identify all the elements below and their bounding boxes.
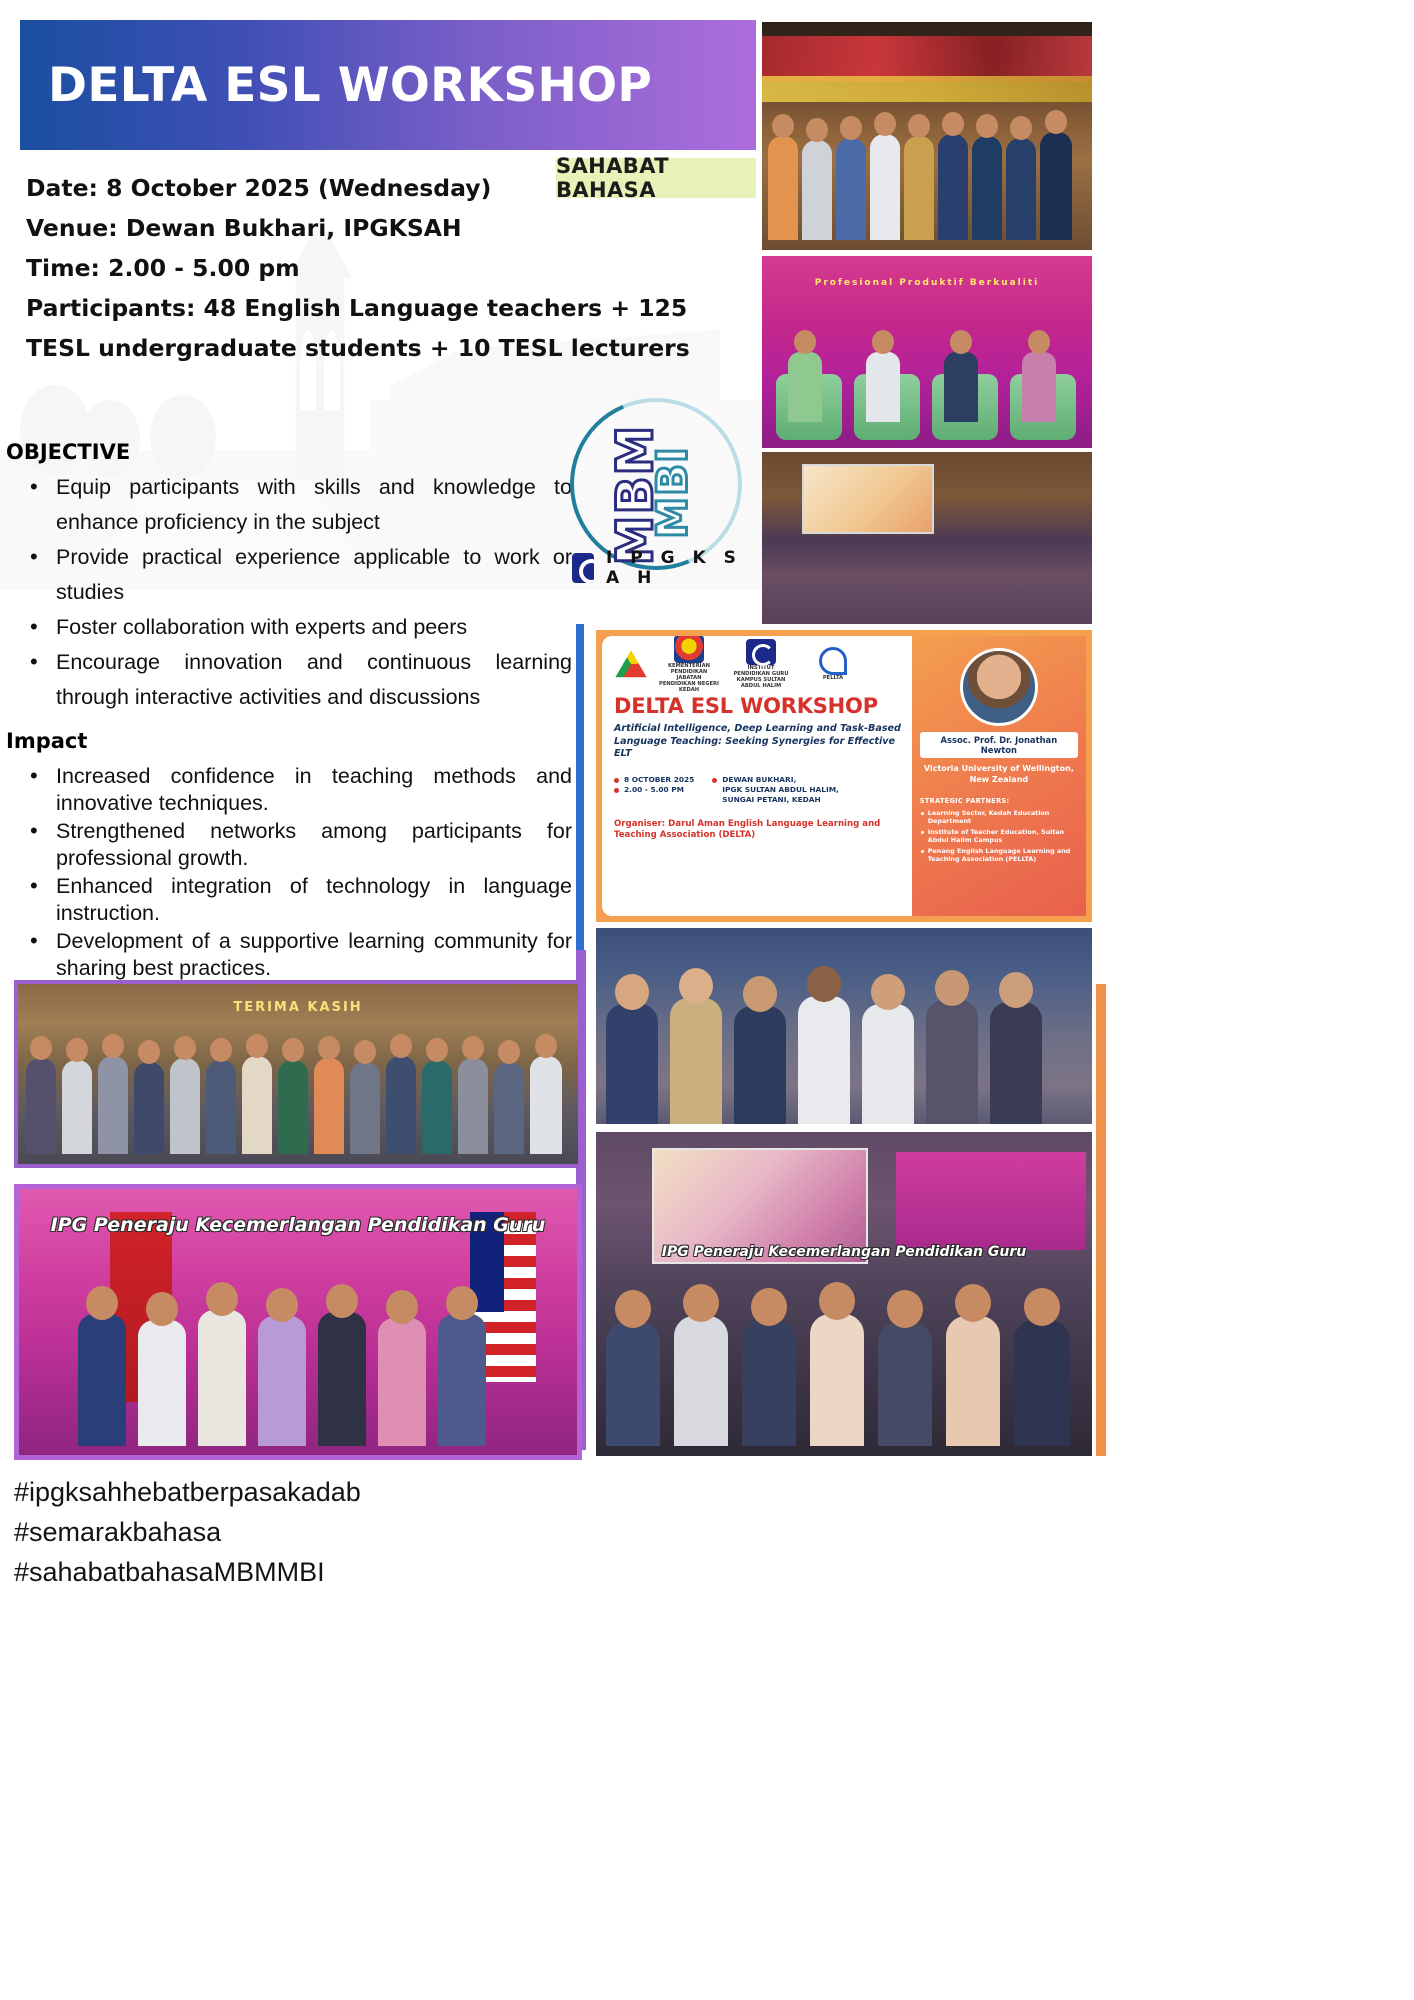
photo-image — [596, 928, 1092, 1124]
poster-meta-venue-1: DEWAN BUKHARI, — [712, 775, 839, 785]
event-details: Date: 8 October 2025 (Wednesday) Venue: … — [26, 168, 726, 368]
poster-meta-venue-3: SUNGAI PETANI, KEDAH — [712, 795, 839, 805]
list-item: Provide practical experience applicable … — [26, 540, 572, 610]
kedah-logo-icon — [614, 649, 648, 679]
list-item: Development of a supportive learning com… — [26, 928, 572, 982]
poster-logo-caption: KEMENTERIAN PENDIDIKAN JABATAN PENDIDIKA… — [658, 663, 720, 693]
poster-organiser: Organiser: Darul Aman English Language L… — [614, 819, 902, 841]
detail-date: Date: 8 October 2025 (Wednesday) — [26, 168, 726, 208]
list-item: Institute of Teacher Education, Sultan A… — [920, 828, 1078, 845]
photo-panel-pink: Profesional Produktif Berkualiti — [762, 256, 1092, 448]
accent-bar-blue — [576, 624, 584, 976]
photo-image — [762, 452, 1092, 624]
poster-logo-strip: KEMENTERIAN PENDIDIKAN JABATAN PENDIDIKA… — [614, 646, 902, 682]
photo-audience-rows — [596, 928, 1092, 1124]
photo-image: Profesional Produktif Berkualiti — [762, 256, 1092, 448]
photo-group-stage — [762, 22, 1092, 250]
photo-caption-text: Profesional Produktif Berkualiti — [762, 278, 1092, 288]
pellta-logo-icon — [819, 647, 847, 675]
ipg-mark-icon — [572, 553, 594, 583]
speaker-name: Assoc. Prof. Dr. Jonathan Newton — [920, 732, 1078, 758]
impact-heading: Impact — [6, 729, 572, 753]
header-banner: DELTA ESL WORKSHOP — [20, 20, 756, 150]
poster-logo-caption: INSTITUT PENDIDIKAN GURU KAMPUS SULTAN A… — [730, 665, 792, 689]
mbm-mbi-logo: MBM MBI I P G K S A H — [566, 398, 752, 584]
list-item: Learning Sector, Kedah Education Departm… — [920, 809, 1078, 826]
poster-title: DELTA ESL WORKSHOP — [614, 694, 902, 718]
photo-frame-pink — [14, 1184, 582, 1460]
photo-image — [762, 22, 1092, 250]
list-item: Equip participants with skills and knowl… — [26, 470, 572, 540]
page-title: DELTA ESL WORKSHOP — [20, 58, 652, 113]
list-item: Strengthened networks among participants… — [26, 818, 572, 872]
detail-participants: Participants: 48 English Language teache… — [26, 288, 726, 368]
detail-venue: Venue: Dewan Bukhari, IPGKSAH — [26, 208, 726, 248]
photo-hall-wide — [762, 452, 1092, 624]
poster-logo-caption: PELLTA — [802, 675, 864, 681]
objective-list: Equip participants with skills and knowl… — [26, 470, 572, 715]
poster-page: DELTA ESL WORKSHOP SAHABAT BAHASA Date: … — [0, 0, 1414, 2000]
jata-negara-icon — [674, 636, 704, 663]
photo-image: IPG Peneraju Kecemerlangan Pendidikan Gu… — [596, 1132, 1092, 1456]
list-item: Foster collaboration with experts and pe… — [26, 610, 572, 645]
ipgksah-lockup: I P G K S A H — [572, 548, 752, 588]
list-item: Increased confidence in teaching methods… — [26, 763, 572, 817]
accent-bar-orange — [1096, 984, 1106, 1456]
content-column: OBJECTIVE Equip participants with skills… — [6, 440, 572, 983]
speaker-avatar — [960, 648, 1038, 726]
photo-frame-group — [14, 980, 582, 1168]
speaker-affiliation: Victoria University of Wellington, New Z… — [920, 764, 1078, 785]
partners-heading: STRATEGIC PARTNERS: — [920, 797, 1078, 805]
poster-meta: 8 OCTOBER 2025 2.00 - 5.00 PM DEWAN BUKH… — [614, 775, 902, 805]
ipgksah-label: I P G K S A H — [606, 548, 752, 588]
delta-event-poster: KEMENTERIAN PENDIDIKAN JABATAN PENDIDIKA… — [596, 630, 1092, 922]
hashtag-2: #semarakbahasa — [14, 1512, 361, 1552]
partners-list: Learning Sector, Kedah Education Departm… — [920, 809, 1078, 863]
hashtag-1: #ipgksahhebatberpasakadab — [14, 1472, 361, 1512]
hashtag-3: #sahabatbahasaMBMMBI — [14, 1552, 361, 1592]
impact-list: Increased confidence in teaching methods… — [26, 763, 572, 982]
poster-subtitle: Artificial Intelligence, Deep Learning a… — [614, 723, 902, 761]
poster-meta-time: 2.00 - 5.00 PM — [614, 785, 694, 795]
detail-time: Time: 2.00 - 5.00 pm — [26, 248, 726, 288]
hashtag-block: #ipgksahhebatberpasakadab #semarakbahasa… — [14, 1472, 361, 1592]
poster-meta-date: 8 OCTOBER 2025 — [614, 775, 694, 785]
list-item: Encourage innovation and continuous lear… — [26, 645, 572, 715]
list-item: Penang English Language Learning and Tea… — [920, 847, 1078, 864]
ipg-logo-icon — [746, 639, 776, 665]
objective-heading: OBJECTIVE — [6, 440, 572, 464]
mbi-wordmark: MBI — [648, 429, 697, 557]
list-item: Enhanced integration of technology in la… — [26, 873, 572, 927]
photo-auditorium: IPG Peneraju Kecemerlangan Pendidikan Gu… — [596, 1132, 1092, 1456]
poster-meta-venue-2: IPGK SULTAN ABDUL HALIM, — [712, 785, 839, 795]
